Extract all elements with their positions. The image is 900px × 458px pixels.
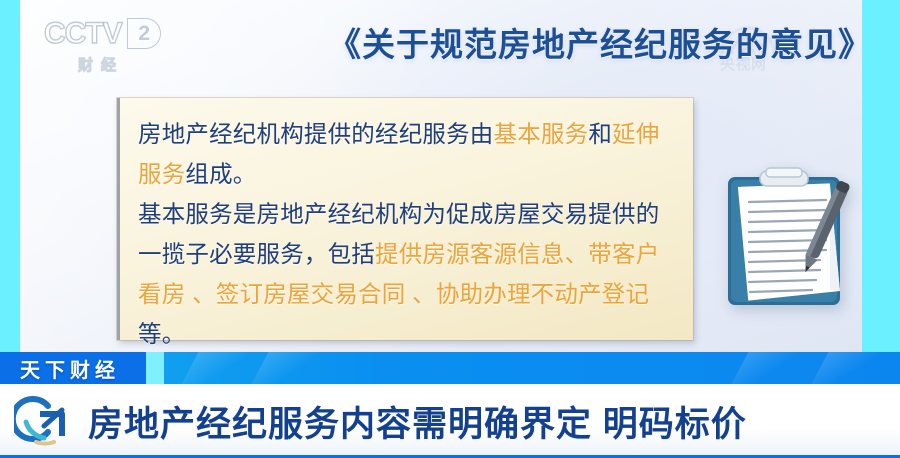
- policy-plain-text: 房地产经纪机构提供的经纪服务由: [138, 121, 494, 147]
- broadcast-stage: CCTV 2 财经 《关于规范房地产经纪服务的意见》 央视网 房地产经纪机构提供…: [20, 0, 862, 352]
- program-bar-chevron: [731, 352, 808, 384]
- policy-text-card: 房地产经纪机构提供的经纪服务由基本服务和延伸服务组成。基本服务是房地产经纪机构为…: [117, 98, 693, 340]
- cctv-subtitle: 财经: [78, 54, 172, 75]
- cctv-letters: CCTV: [44, 19, 122, 49]
- broadcast-frame: CCTV 2 财经 《关于规范房地产经纪服务的意见》 央视网 房地产经纪机构提供…: [0, 0, 900, 458]
- policy-text-body: 房地产经纪机构提供的经纪服务由基本服务和延伸服务组成。基本服务是房地产经纪机构为…: [138, 114, 679, 354]
- headline-text: 房地产经纪服务内容需明确界定 明码标价: [88, 384, 747, 458]
- clipboard-with-pen-icon: [720, 165, 868, 315]
- program-name: 天下财经: [20, 352, 120, 384]
- left-color-bar: [0, 0, 20, 352]
- policy-highlight-text: 基本服务: [494, 121, 589, 147]
- lower-third: 天下财经 房地产经纪服务内容需明确界定 明码标价: [0, 352, 900, 458]
- program-bar: [0, 352, 900, 384]
- cctv-channel-bug: CCTV 2 财经: [44, 18, 172, 80]
- cctv-channel-number: 2: [127, 18, 161, 49]
- program-bar-chevron: [251, 352, 328, 384]
- document-title: 《关于规范房地产经纪服务的意见》: [320, 18, 880, 66]
- policy-plain-text: 组成。: [185, 161, 256, 187]
- policy-paragraph: 基本服务是房地产经纪机构为促成房屋交易提供的一揽子必要服务，包括提供房源客源信息…: [138, 194, 679, 354]
- cctv-wordmark: CCTV 2: [44, 18, 172, 49]
- policy-paragraph: 房地产经纪机构提供的经纪服务由基本服务和延伸服务组成。: [138, 114, 679, 194]
- policy-plain-text: 等。: [138, 321, 185, 347]
- clipboard-clip: [760, 168, 808, 186]
- program-bar-chevron: [811, 352, 888, 384]
- channel-swoosh-logo-icon: [14, 392, 76, 450]
- program-bar-chevron: [181, 352, 258, 384]
- policy-plain-text: 和: [588, 121, 612, 147]
